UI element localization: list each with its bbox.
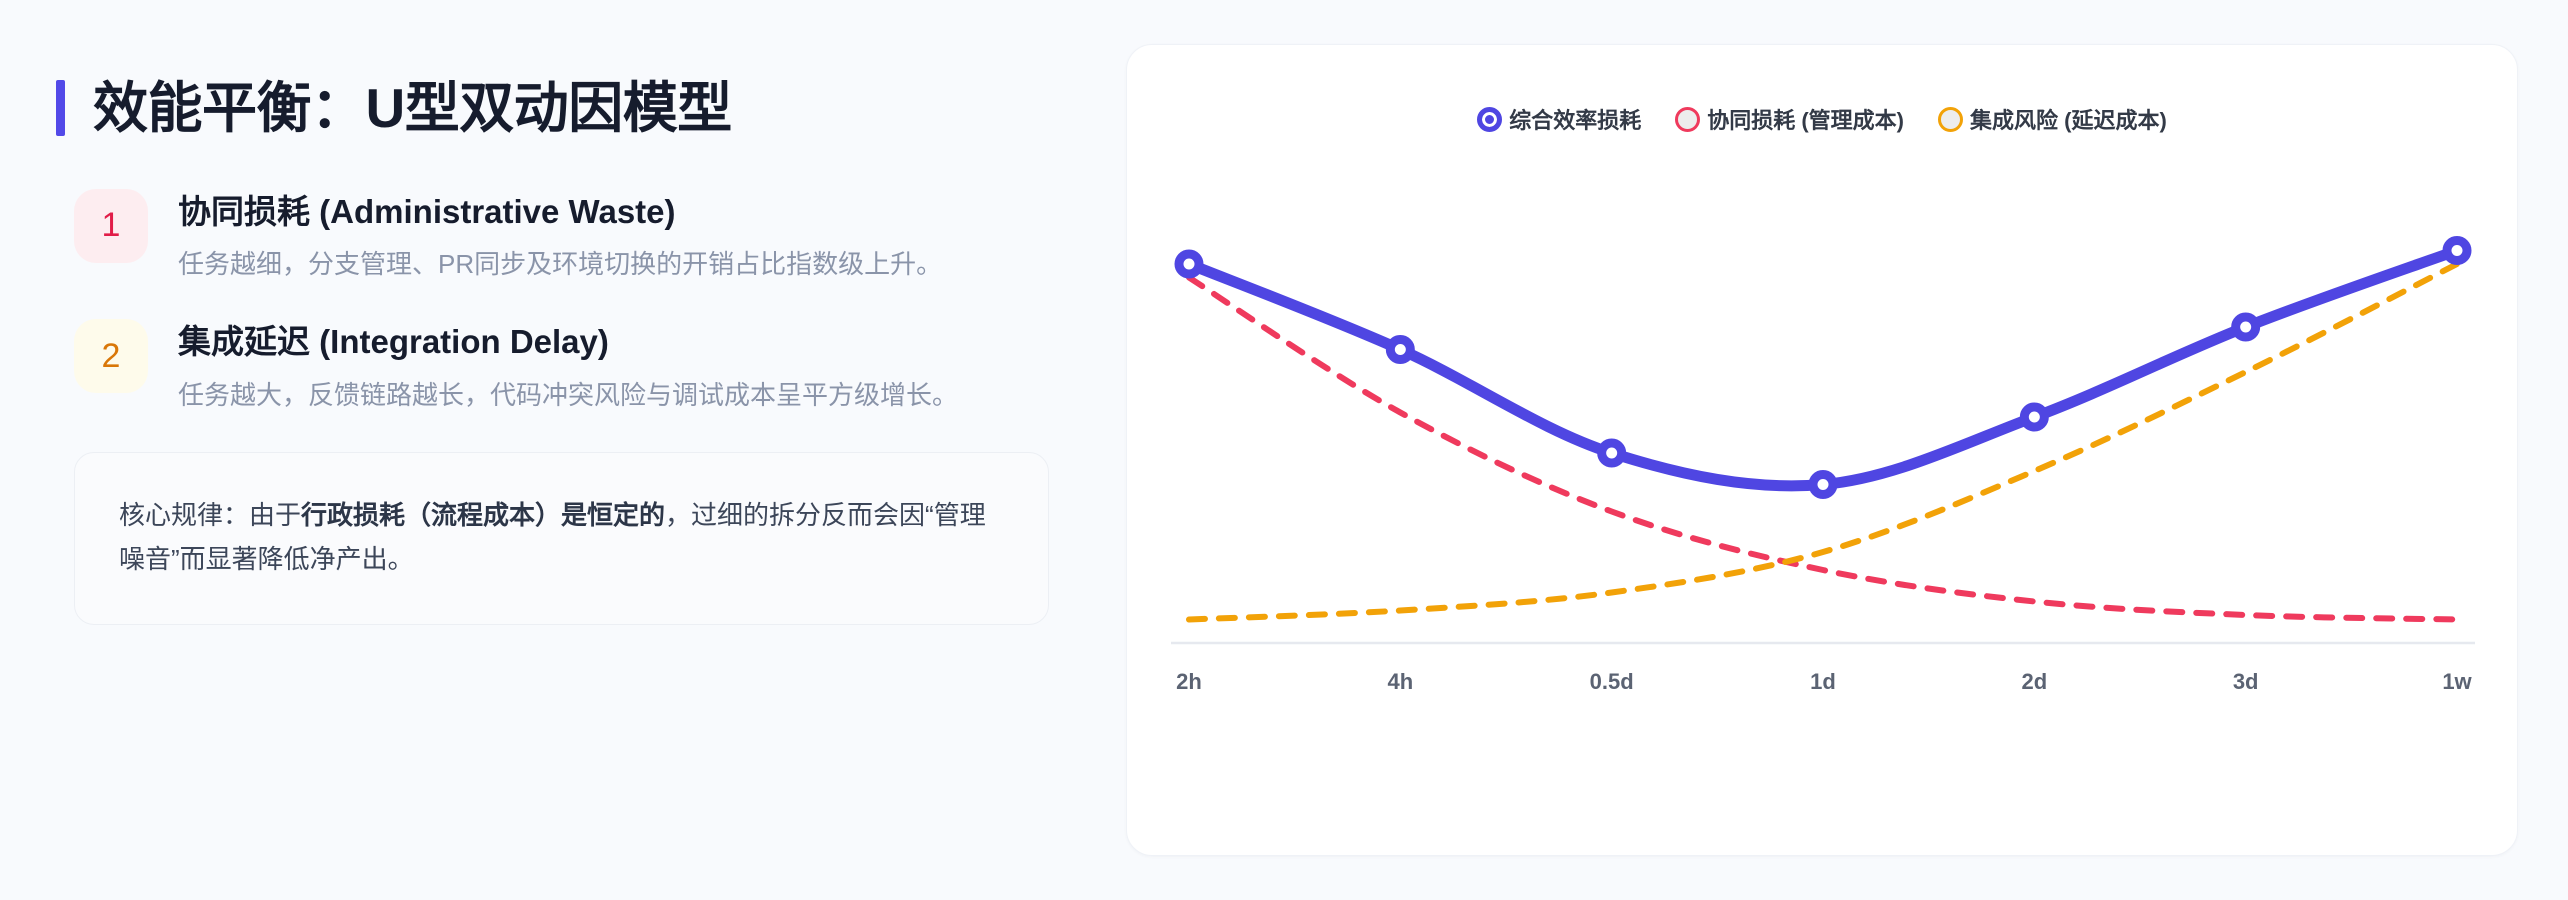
chart-svg <box>1127 135 2518 755</box>
circle-marker-icon <box>1477 107 1502 132</box>
item-title: 集成延迟 (Integration Delay) <box>178 321 958 362</box>
slide-root: 效能平衡：U型双动因模型 1 协同损耗 (Administrative Wast… <box>0 0 2568 900</box>
legend-label: 综合效率损耗 <box>1509 103 1641 135</box>
title-accent-bar <box>56 80 65 136</box>
callout-text: 核心规律：由于行政损耗（流程成本）是恒定的，过细的拆分反而会因“管理噪音”而显著… <box>119 493 1004 582</box>
legend-item-integration[interactable]: 集成风险 (延迟成本) <box>1938 103 2167 135</box>
page-title: 效能平衡：U型双动因模型 <box>93 76 732 141</box>
item-description: 任务越大，反馈链路越长，代码冲突风险与调试成本呈平方级增长。 <box>178 374 958 416</box>
circle-marker-icon <box>1938 107 1963 132</box>
data-point-marker[interactable] <box>1390 340 1410 360</box>
data-point-marker[interactable] <box>1602 443 1622 463</box>
legend-label: 协同损耗 (管理成本) <box>1707 103 1904 135</box>
chart-legend: 综合效率损耗 协同损耗 (管理成本) 集成风险 (延迟成本) <box>1127 45 2517 135</box>
series-line <box>1189 251 2457 486</box>
item-description: 任务越细，分支管理、PR同步及环境切换的开销占比指数级上升。 <box>178 243 942 285</box>
chart-card: 综合效率损耗 协同损耗 (管理成本) 集成风险 (延迟成本) 2h4h0.5d1… <box>1126 44 2518 856</box>
data-point-marker[interactable] <box>1179 254 1199 274</box>
item-title: 协同损耗 (Administrative Waste) <box>178 191 942 232</box>
callout-lead: 核心规律：由于 <box>119 500 301 530</box>
plot-area: 2h4h0.5d1d2d3d1w <box>1127 135 2518 755</box>
data-point-marker[interactable] <box>2236 317 2256 337</box>
list-item: 1 协同损耗 (Administrative Waste) 任务越细，分支管理、… <box>56 187 1065 285</box>
series-line <box>1189 278 2457 620</box>
data-point-marker[interactable] <box>2024 407 2044 427</box>
title-block: 效能平衡：U型双动因模型 <box>56 76 1065 141</box>
item-number-badge: 2 <box>74 319 148 393</box>
circle-marker-icon <box>1675 107 1700 132</box>
item-body: 协同损耗 (Administrative Waste) 任务越细，分支管理、PR… <box>178 187 942 285</box>
legend-label: 集成风险 (延迟成本) <box>1970 103 2167 135</box>
list-item: 2 集成延迟 (Integration Delay) 任务越大，反馈链路越长，代… <box>56 317 1065 415</box>
left-content-column: 效能平衡：U型双动因模型 1 协同损耗 (Administrative Wast… <box>0 0 1125 900</box>
data-point-marker[interactable] <box>2447 241 2467 261</box>
item-body: 集成延迟 (Integration Delay) 任务越大，反馈链路越长，代码冲… <box>178 317 958 415</box>
item-number-badge: 1 <box>74 189 148 263</box>
callout-emphasis: 行政损耗（流程成本）是恒定的 <box>301 500 665 530</box>
legend-item-composite[interactable]: 综合效率损耗 <box>1477 103 1641 135</box>
key-insight-callout: 核心规律：由于行政损耗（流程成本）是恒定的，过细的拆分反而会因“管理噪音”而显著… <box>74 452 1049 625</box>
data-point-marker[interactable] <box>1813 475 1833 495</box>
legend-item-coordination[interactable]: 协同损耗 (管理成本) <box>1675 103 1904 135</box>
